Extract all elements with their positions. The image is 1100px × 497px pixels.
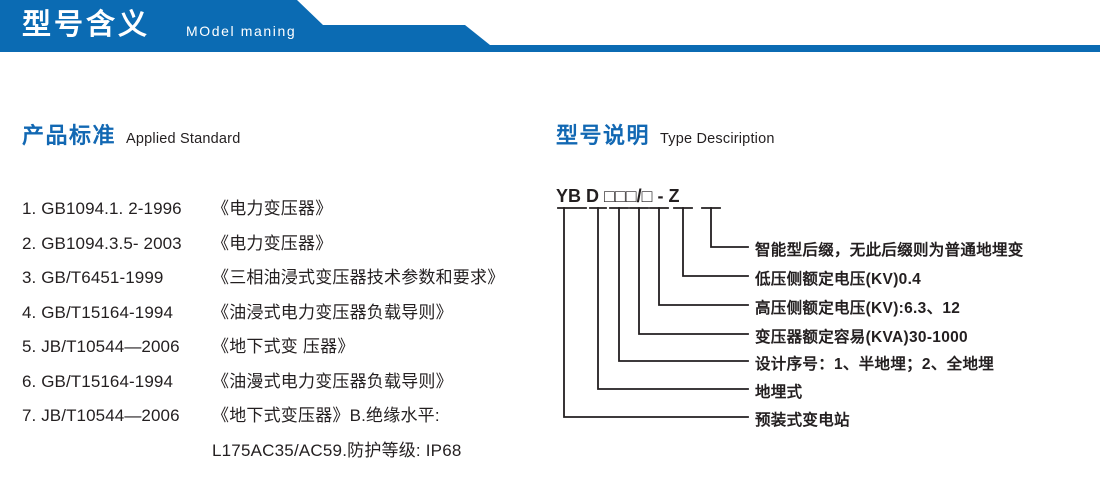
section-heading-en-type: Type Desciription (660, 131, 775, 147)
leader-label-capacity: 变压器额定容易(KVA)30-1000 (755, 325, 968, 347)
standard-name: 《电力变压器》 (212, 194, 332, 219)
banner-subtitle: MOdel maning (186, 22, 296, 40)
list-item: 4. GB/T15164-1994 《油浸式电力变压器负载导则》 (22, 298, 542, 333)
section-heading-applied-standard: 产品标准Applied Standard (22, 118, 240, 150)
standards-list: 1. GB1094.1. 2-1996 《电力变压器》 2. GB1094.3.… (22, 194, 542, 470)
leader-label-design-serial: 设计序号：1、半地埋；2、全地埋 (755, 352, 994, 374)
standard-name: 《电力变压器》 (212, 229, 332, 254)
standard-code: 7. JB/T10544—2006 (22, 406, 212, 426)
list-item: 1. GB1094.1. 2-1996 《电力变压器》 (22, 194, 542, 229)
leader-label-buried-type: 地埋式 (755, 380, 802, 402)
section-heading-cn-type: 型号说明 (556, 123, 650, 148)
standard-name-continuation: L175AC35/AC59.防护等级: IP68 (212, 436, 462, 461)
standard-code: 5. JB/T10544—2006 (22, 337, 212, 357)
standard-name: 《地下式变 压器》 (212, 332, 355, 357)
standard-code: 2. GB1094.3.5- 2003 (22, 234, 212, 254)
leader-label-hv-voltage: 高压侧额定电压(KV):6.3、12 (755, 296, 960, 318)
section-heading-cn-standard: 产品标准 (22, 123, 116, 148)
list-item: 3. GB/T6451-1999 《三相油浸式变压器技术参数和要求》 (22, 263, 542, 298)
standard-name: 《地下式变压器》B.绝缘水平: (212, 401, 440, 426)
standard-name: 《油浸式电力变压器负载导则》 (212, 298, 453, 323)
standard-code: 3. GB/T6451-1999 (22, 268, 212, 288)
list-item-continuation: L175AC35/AC59.防护等级: IP68 (22, 436, 542, 471)
leader-label-lv-voltage: 低压侧额定电压(KV)0.4 (755, 267, 921, 289)
standard-name: 《油漫式电力变压器负载导则》 (212, 367, 453, 392)
standard-code: 6. GB/T15164-1994 (22, 372, 212, 392)
list-item: 2. GB1094.3.5- 2003 《电力变压器》 (22, 229, 542, 264)
page-header-banner: 型号含义 MOdel maning (0, 0, 1100, 56)
type-designation-diagram: YB D □□□/□ - Z 智能型后缀，无此后缀 (550, 186, 1095, 436)
section-heading-type-description: 型号说明Type Desciription (556, 118, 775, 150)
leader-label-substation: 预装式变电站 (755, 408, 850, 430)
banner-background-shape (0, 0, 1100, 56)
standard-code: 1. GB1094.1. 2-1996 (22, 199, 212, 219)
section-heading-en-standard: Applied Standard (126, 131, 240, 147)
banner-title: 型号含义 (22, 7, 150, 43)
list-item: 5. JB/T10544—2006 《地下式变 压器》 (22, 332, 542, 367)
standard-code: 4. GB/T15164-1994 (22, 303, 212, 323)
leader-label-suffix: 智能型后缀，无此后缀则为普通地埋变 (755, 238, 1024, 260)
list-item: 7. JB/T10544—2006 《地下式变压器》B.绝缘水平: (22, 401, 542, 436)
standard-name: 《三相油浸式变压器技术参数和要求》 (212, 263, 504, 288)
list-item: 6. GB/T15164-1994 《油漫式电力变压器负载导则》 (22, 367, 542, 402)
